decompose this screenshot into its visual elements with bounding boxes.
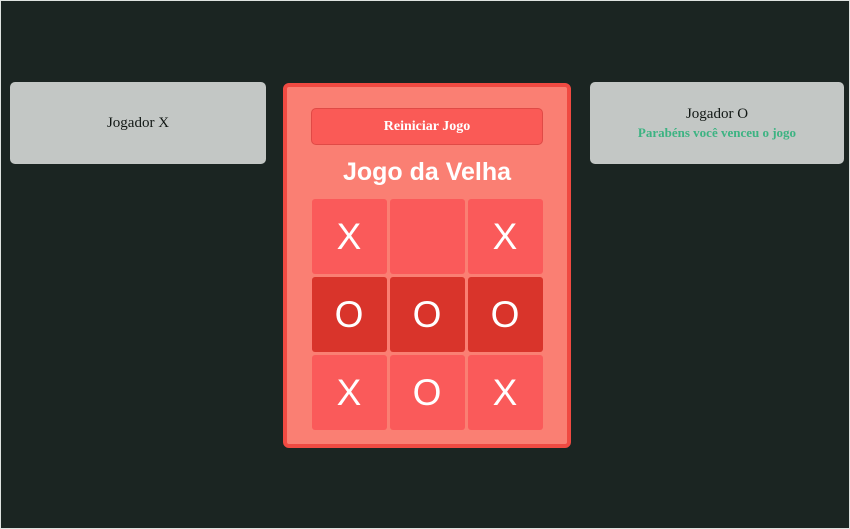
player-x-card: Jogador X [10, 82, 266, 164]
board-cell-6[interactable]: X [312, 355, 387, 430]
player-o-card: Jogador O Parabéns você venceu o jogo [590, 82, 844, 164]
player-x-name: Jogador X [107, 114, 169, 133]
board-cell-8[interactable]: X [468, 355, 543, 430]
board-cell-4[interactable]: O [390, 277, 465, 352]
game-board: XXOOOXOX [312, 199, 543, 430]
board-cell-0[interactable]: X [312, 199, 387, 274]
app-viewport: Jogador X Reiniciar Jogo Jogo da Velha X… [0, 0, 850, 529]
board-cell-7[interactable]: O [390, 355, 465, 430]
board-cell-2[interactable]: X [468, 199, 543, 274]
board-cell-1[interactable] [390, 199, 465, 274]
player-o-winner-message: Parabéns você venceu o jogo [638, 125, 796, 141]
board-cell-3[interactable]: O [312, 277, 387, 352]
game-panel: Reiniciar Jogo Jogo da Velha XXOOOXOX [283, 83, 571, 448]
restart-game-button[interactable]: Reiniciar Jogo [311, 108, 543, 145]
board-cell-5[interactable]: O [468, 277, 543, 352]
game-title: Jogo da Velha [343, 158, 511, 187]
player-o-name: Jogador O [686, 105, 748, 124]
